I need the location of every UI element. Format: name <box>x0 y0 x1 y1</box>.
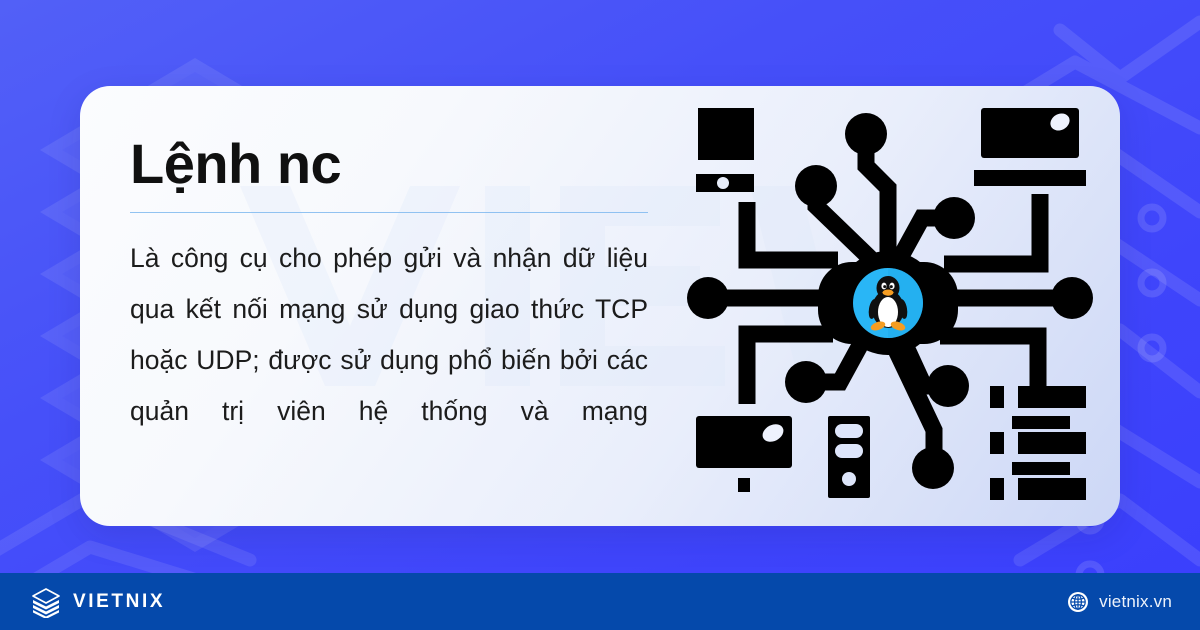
brand-block[interactable]: VIETNIX <box>30 586 165 618</box>
card-description: Là công cụ cho phép gửi và nhận dữ liệu … <box>130 233 648 488</box>
brand-name: VIETNIX <box>73 591 165 613</box>
footer-bar: VIETNIX vietnix.vn <box>0 573 1200 630</box>
title-divider <box>130 212 648 213</box>
content-card: Lệnh nc Là công cụ cho phép gửi và nhận … <box>80 86 1120 526</box>
globe-icon <box>1067 591 1089 613</box>
tux-linux-penguin-icon <box>853 268 923 338</box>
checklist-icon <box>990 386 1086 500</box>
card-text-column: Lệnh nc Là công cụ cho phép gửi và nhận … <box>130 134 650 488</box>
laptop-icon <box>974 108 1086 186</box>
site-url: vietnix.vn <box>1099 592 1172 612</box>
vietnix-layers-logo <box>30 586 62 618</box>
server-tower-icon <box>828 416 870 498</box>
monitor-icon <box>696 108 754 192</box>
site-link[interactable]: vietnix.vn <box>1067 591 1172 613</box>
desktop-computer-icon <box>696 416 792 492</box>
page-title: Lệnh nc <box>130 134 650 194</box>
linux-network-circuit-illustration <box>678 94 1098 514</box>
